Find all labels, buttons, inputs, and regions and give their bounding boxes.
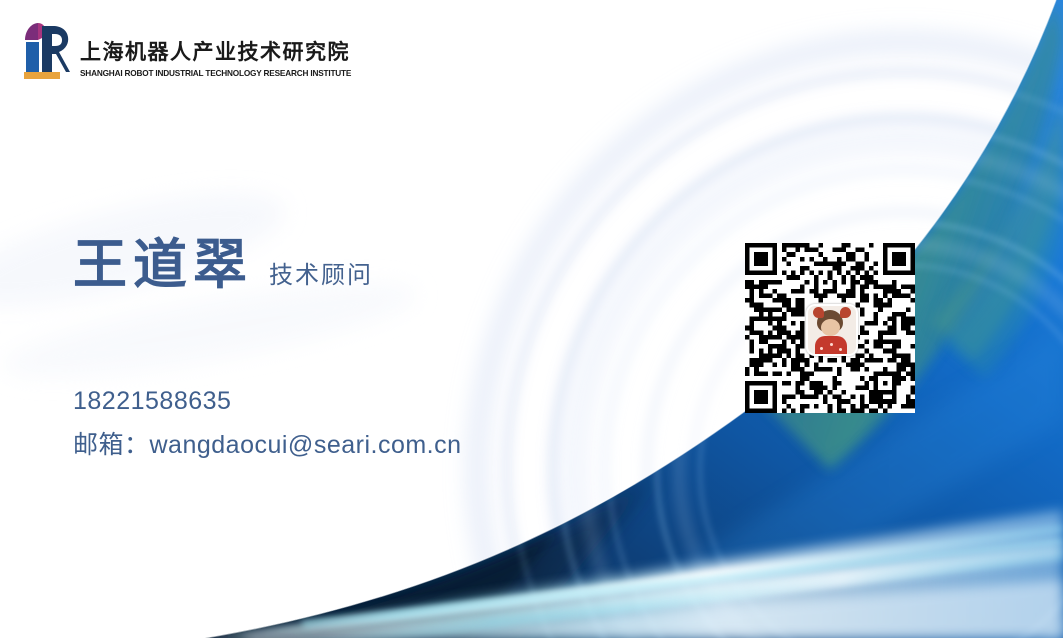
logo-text-group: 上海机器人产业技术研究院 SHANGHAI ROBOT INDUSTRIAL T… xyxy=(80,41,360,80)
avatar-dot-1 xyxy=(820,347,823,350)
avatar-face xyxy=(821,319,840,336)
phone-number[interactable]: 18221588635 xyxy=(73,380,462,424)
logo-blue-stem xyxy=(26,42,39,72)
person-title: 技术顾问 xyxy=(269,264,373,292)
qr-center-avatar xyxy=(806,304,858,356)
org-name-en: SHANGHAI ROBOT INDUSTRIAL TECHNOLOGY RES… xyxy=(80,68,351,78)
avatar-bow-left xyxy=(813,307,824,318)
avatar-dot-3 xyxy=(839,348,842,351)
identity-block: 王道翠 技术顾问 xyxy=(73,238,373,292)
logo-navy-r xyxy=(42,26,70,72)
wechat-qr-code[interactable] xyxy=(745,243,915,413)
logo-purple-dome xyxy=(25,23,38,40)
seari-logo-mark xyxy=(22,18,70,80)
logo-mark-svg xyxy=(22,18,70,80)
avatar-dot-2 xyxy=(830,343,833,346)
logo-orange-bar xyxy=(24,72,60,79)
email-address[interactable]: 邮箱：wangdaocui@seari.com.cn xyxy=(73,424,462,468)
org-name-cn: 上海机器人产业技术研究院 xyxy=(80,41,360,65)
avatar-bow-right xyxy=(840,307,851,318)
business-card: 上海机器人产业技术研究院 SHANGHAI ROBOT INDUSTRIAL T… xyxy=(0,0,1063,638)
logo-block: 上海机器人产业技术研究院 SHANGHAI ROBOT INDUSTRIAL T… xyxy=(22,18,360,80)
blue-wave xyxy=(170,0,1063,638)
person-name: 王道翠 xyxy=(73,238,253,292)
contact-block: 18221588635 邮箱：wangdaocui@seari.com.cn xyxy=(73,380,462,468)
